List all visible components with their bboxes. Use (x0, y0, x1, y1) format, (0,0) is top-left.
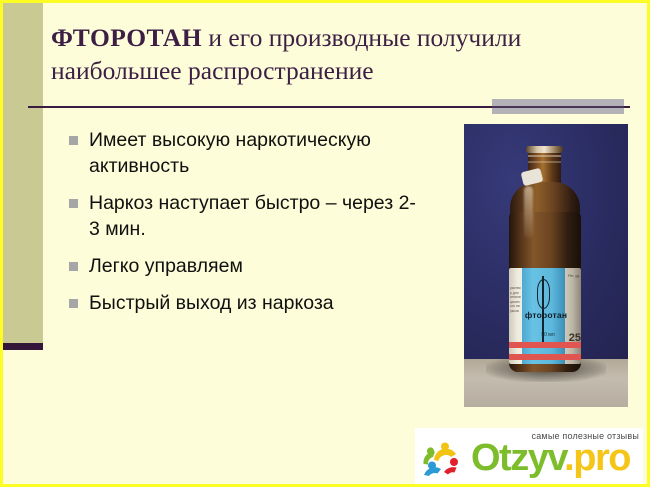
title-divider-rule-overlay (492, 106, 624, 108)
bottle-photograph: фторотан 50 мл раствор для ингаляционног… (464, 124, 628, 407)
bullet-list: Имеет высокую наркотическую активность Н… (69, 127, 449, 327)
watermark-brand: Otzyv.pro (471, 439, 630, 477)
title-line-1: ФТОРОТАН и его производные получили (51, 21, 611, 54)
bottle-object: фторотан 50 мл раствор для ингаляционног… (502, 146, 588, 374)
left-accent-band (3, 3, 43, 343)
label-volume: 50 мл (531, 332, 565, 338)
list-item: Имеет высокую наркотическую активность (69, 127, 449, 179)
bottle-glass-highlight (524, 186, 533, 238)
bottle-neck-thread (528, 155, 561, 157)
label-side-text: раствор для ингаляционного наркоза (510, 286, 521, 314)
label-pictogram-icon (537, 279, 550, 309)
list-item-label: Быстрый выход из наркоза (89, 290, 334, 316)
list-item-label: Легко управляем (89, 253, 243, 279)
left-accent-band-cap (3, 343, 43, 350)
watermark: самые полезные отзывы Otzyv.pro (415, 428, 643, 484)
square-bullet-icon (69, 262, 78, 271)
title-line-2: наибольшее распространение (51, 54, 611, 87)
square-bullet-icon (69, 136, 78, 145)
label-red-stripe (509, 354, 581, 360)
list-item: Легко управляем (69, 253, 449, 279)
watermark-brand-suffix: .pro (564, 437, 630, 479)
title-rest: и его производные получили (202, 23, 521, 52)
label-registration-code: Рег. уд. (567, 274, 580, 279)
bottle-neck-thread (528, 161, 561, 163)
title-emphasis: ФТОРОТАН (51, 23, 202, 52)
bottle-mouth-rim (526, 146, 563, 153)
square-bullet-icon (69, 199, 78, 208)
slide-title: ФТОРОТАН и его производные получили наиб… (51, 21, 611, 87)
list-item-label: Имеет высокую наркотическую активность (89, 127, 419, 179)
list-item: Быстрый выход из наркоза (69, 290, 449, 316)
watermark-brand-main: Otzyv (471, 437, 564, 479)
list-item-label: Наркоз наступает быстро – через 2-3 мин. (89, 190, 419, 242)
slide-canvas: ФТОРОТАН и его производные получили наиб… (0, 0, 650, 487)
otzyv-logo-icon (421, 441, 467, 477)
label-red-stripe (509, 342, 581, 348)
bottle-label: фторотан 50 мл раствор для ингаляционног… (509, 268, 581, 364)
label-product-name: фторотан (523, 310, 569, 320)
square-bullet-icon (69, 299, 78, 308)
list-item: Наркоз наступает быстро – через 2-3 мин. (69, 190, 449, 242)
